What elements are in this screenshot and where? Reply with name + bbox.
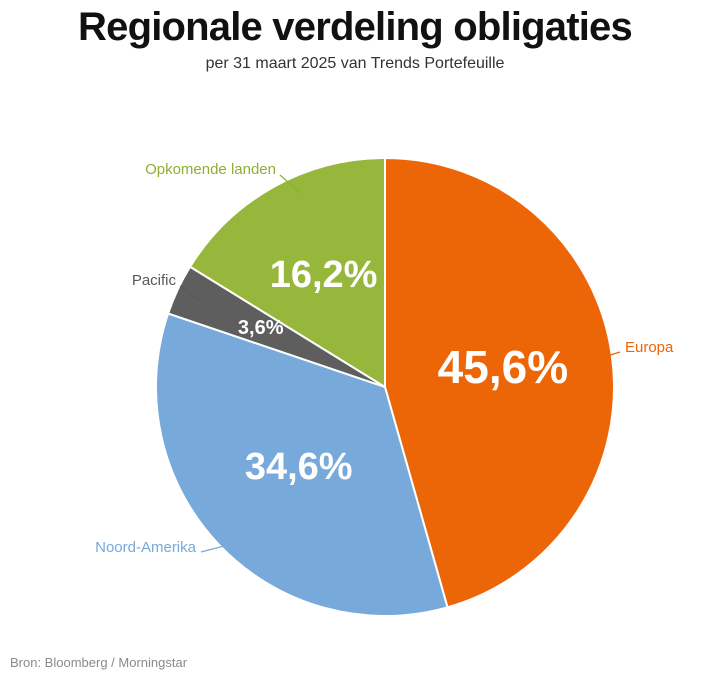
pie-value-label-pacific: 3,6%	[238, 317, 284, 339]
pie-chart-canvas: 45,6%34,6%3,6%16,2% EuropaNoord-AmerikaP…	[0, 0, 710, 680]
pie-category-label-pacific: Pacific	[132, 272, 177, 289]
pie-chart-figure: Regionale verdeling obligaties per 31 ma…	[0, 0, 710, 680]
chart-source-note: Bron: Bloomberg / Morningstar	[10, 655, 187, 671]
pie-category-label-europa: Europa	[625, 339, 674, 356]
pie-category-label-opkomende-landen: Opkomende landen	[145, 161, 276, 178]
pie-value-label-noord-amerika: 34,6%	[245, 446, 353, 488]
pie-value-label-europa: 45,6%	[438, 341, 568, 393]
pie-value-label-opkomende-landen: 16,2%	[270, 254, 378, 296]
pie-category-label-noord-amerika: Noord-Amerika	[95, 539, 197, 556]
